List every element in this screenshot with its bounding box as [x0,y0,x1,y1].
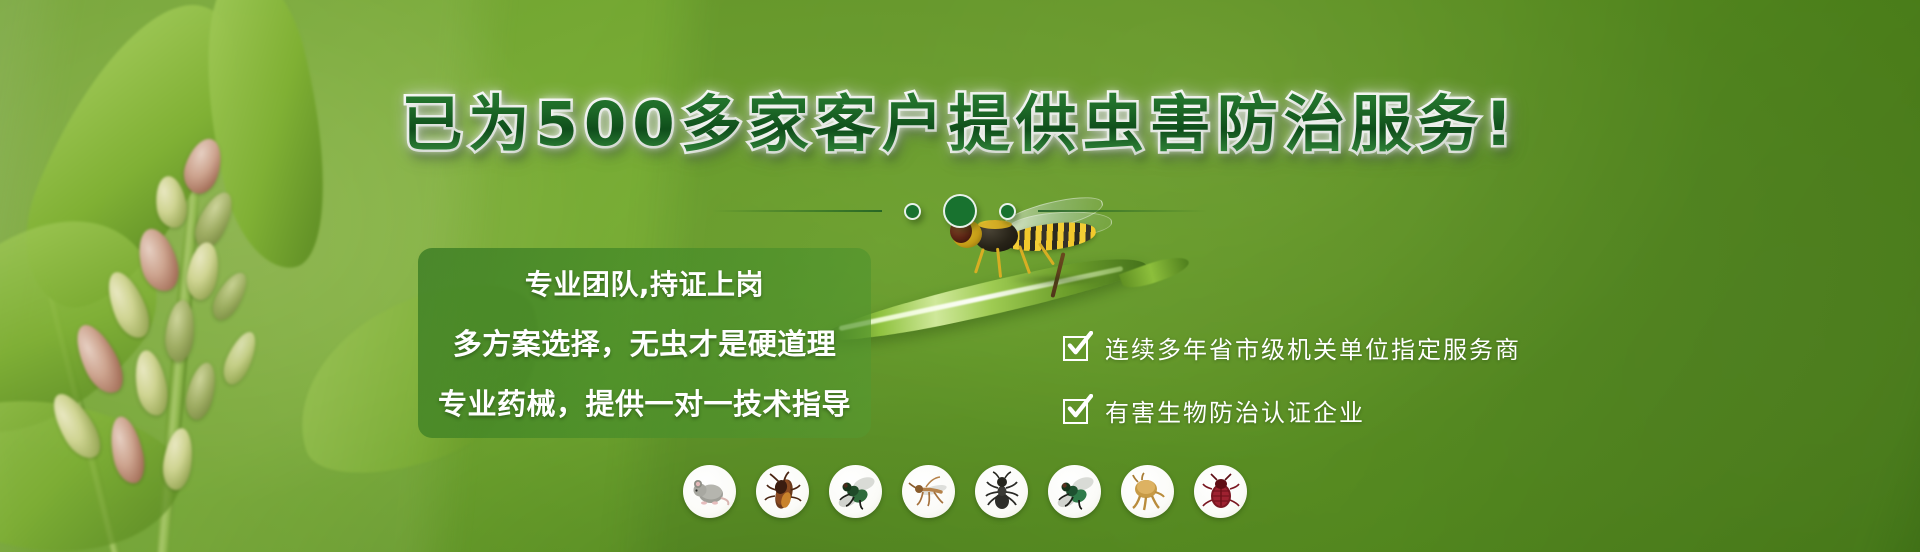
divider-dot-large [943,194,977,228]
pest-icon-fly[interactable] [829,465,882,518]
divider-rule-right [1038,210,1208,212]
flea-icon [1121,465,1174,518]
divider-dot-small-left [904,203,921,220]
panel-line-1: 专业团队,持证上岗 [525,263,764,303]
page-title: 已为500多家客户提供虫害防治服务! [0,74,1920,163]
pest-icon-cockroach[interactable] [756,465,809,518]
fly-icon [829,465,882,518]
pest-icon-mouse[interactable] [683,465,736,518]
pest-icon-ant[interactable] [975,465,1028,518]
leaf-tip [1119,251,1192,294]
pest-control-banner: 已为500多家客户提供虫害防治服务! 已为500多家客户提供虫害防治服务! [0,0,1920,552]
mosquito-icon [902,465,955,518]
mouse-icon [683,465,736,518]
checkbox-checked-icon [1063,397,1091,425]
panel-line-3: 专业药械，提供一对一技术指导 [438,381,851,423]
pest-icon-flea[interactable] [1121,465,1174,518]
list-item: 连续多年省市级机关单位指定服务商 [1063,330,1521,365]
pest-icon-blowfly[interactable] [1048,465,1101,518]
decorative-divider [0,196,1920,226]
divider-rule-left [712,210,882,212]
checkbox-checked-icon [1063,334,1091,362]
divider-dot-small-right [999,203,1016,220]
credentials-list: 连续多年省市级机关单位指定服务商 有害生物防治认证企业 [1063,330,1521,456]
pest-icon-bedbug[interactable] [1194,465,1247,518]
pest-type-icons [0,465,1920,518]
cockroach-icon [756,465,809,518]
ant-icon [975,465,1028,518]
credential-text: 有害生物防治认证企业 [1105,393,1365,428]
panel-line-2: 多方案选择，无虫才是硬道理 [453,321,837,363]
pest-icon-mosquito[interactable] [902,465,955,518]
credential-text: 连续多年省市级机关单位指定服务商 [1105,330,1521,365]
list-item: 有害生物防治认证企业 [1063,393,1521,428]
highlights-panel: 专业团队,持证上岗 多方案选择，无虫才是硬道理 专业药械，提供一对一技术指导 [418,248,871,438]
bedbug-icon [1194,465,1247,518]
blowfly-icon [1048,465,1101,518]
